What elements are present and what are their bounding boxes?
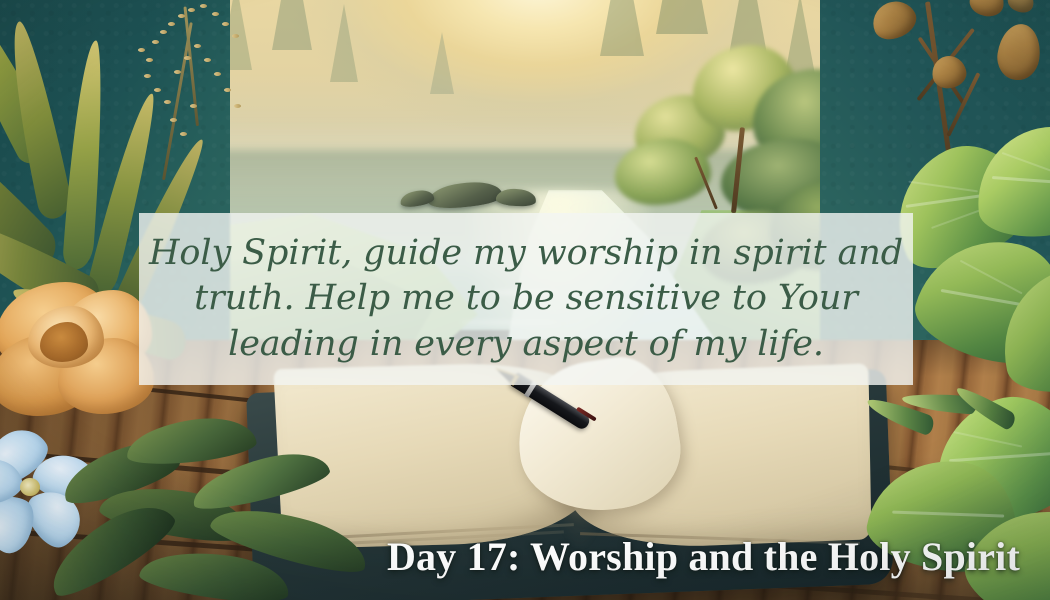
river-rocks — [400, 175, 600, 215]
day-caption: Day 17: Worship and the Holy Spirit — [387, 533, 1020, 580]
seed-spray — [100, 0, 280, 180]
flower-center — [20, 478, 40, 496]
devotional-card: Holy Spirit, guide my worship in spirit … — [0, 0, 1050, 600]
dark-leaves-lower-left — [60, 420, 420, 600]
quote-text: Holy Spirit, guide my worship in spirit … — [139, 231, 913, 368]
quote-panel: Holy Spirit, guide my worship in spirit … — [139, 213, 913, 385]
